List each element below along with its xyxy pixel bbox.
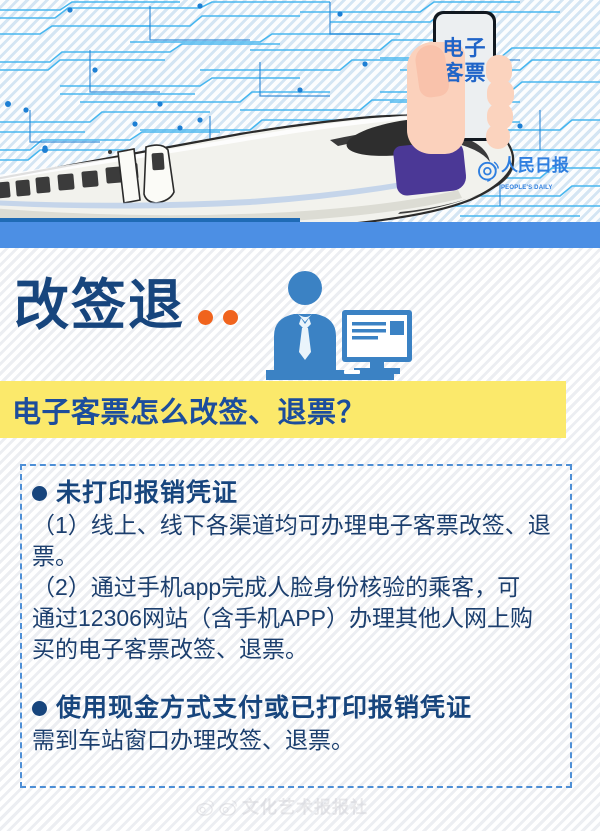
section-spacer <box>32 665 562 691</box>
businessman-at-computer-icon <box>258 266 418 382</box>
bullet-dot-icon <box>32 701 47 716</box>
question-banner: 电子客票怎么改签、退票？ <box>0 381 566 438</box>
hand-finger <box>486 124 510 149</box>
logo-name-cn: 人民日报 <box>501 156 569 175</box>
section-2-heading-text: 使用现金方式支付或已打印报销凭证 <box>56 691 472 725</box>
watermark-text: 文化艺术报报社 <box>242 798 368 817</box>
banner-question-text: 电子客票怎么改签、退票？ <box>12 389 366 431</box>
section-1-heading: 未打印报销凭证 <box>32 476 562 510</box>
section-1-line: （1）线上、线下各渠道均可办理电子客票改签、退 <box>32 510 562 541</box>
hero-banner: 电子客票 人民日报 PEOPLE'S DAILY <box>0 0 600 248</box>
at-symbol-icon <box>477 157 501 187</box>
orange-dot-icon <box>223 310 238 325</box>
infographic-page: 电子客票 人民日报 PEOPLE'S DAILY 改签退 <box>0 0 600 831</box>
logo-name-en: PEOPLE'S DAILY <box>501 185 553 191</box>
page-title: 改签退 <box>14 276 185 334</box>
watermark: 文化艺术报报社 <box>196 798 368 817</box>
section-2-heading: 使用现金方式支付或已打印报销凭证 <box>32 691 562 725</box>
section-1-heading-text: 未打印报销凭证 <box>56 476 238 510</box>
section-1-line: 通过12306网站（含手机APP）办理其他人网上购 <box>32 603 562 634</box>
hero-blue-bar <box>0 222 600 248</box>
orange-dot-icon <box>198 310 213 325</box>
section-2-line: 需到车站窗口办理改签、退票。 <box>32 725 562 756</box>
section-1-line: （2）通过手机app完成人脸身份核验的乘客，可 <box>32 572 562 603</box>
content-box: 未打印报销凭证 （1）线上、线下各渠道均可办理电子客票改签、退 票。 （2）通过… <box>20 464 572 788</box>
weibo-logo-icon <box>219 798 238 817</box>
bullet-dot-icon <box>32 486 47 501</box>
weibo-logo-icon <box>196 798 215 817</box>
title-section: 改签退 <box>0 266 600 376</box>
decorative-dots <box>198 310 238 325</box>
section-1-line: 票。 <box>32 541 562 572</box>
section-1-line: 买的电子客票改签、退票。 <box>32 634 562 665</box>
peoples-daily-logo: 人民日报 PEOPLE'S DAILY <box>477 157 600 194</box>
logo-wordmark: 人民日报 PEOPLE'S DAILY <box>501 157 600 194</box>
